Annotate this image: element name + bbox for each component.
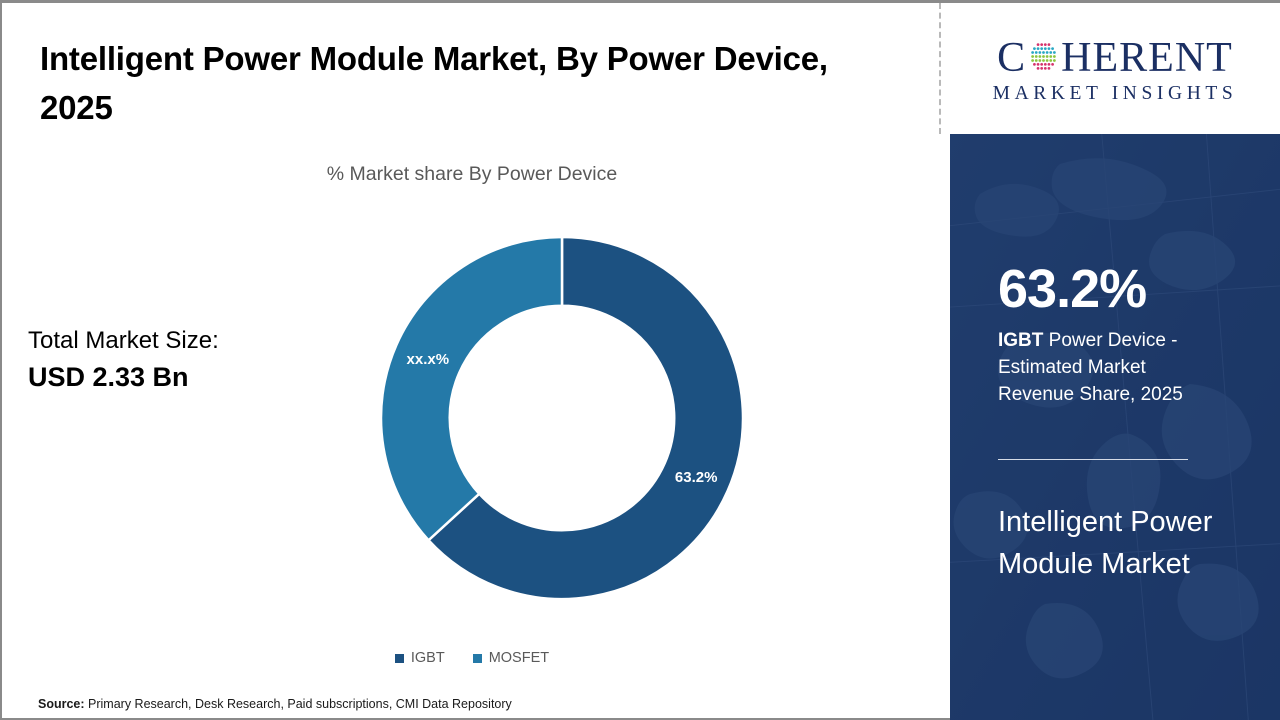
chart-area: Intelligent Power Module Market, By Powe… (2, 3, 939, 720)
total-market-size-value: USD 2.33 Bn (28, 359, 219, 397)
highlight-stat-panel: 63.2% IGBT Power Device - Estimated Mark… (950, 134, 1280, 720)
logo-subtext: MARKET INSIGHTS (993, 84, 1238, 104)
stat-description: IGBT Power Device - Estimated Market Rev… (998, 327, 1223, 408)
total-market-size-block: Total Market Size: USD 2.33 Bn (28, 325, 219, 396)
legend-item-mosfet[interactable]: MOSFET (473, 650, 549, 666)
donut-slice-mosfet[interactable] (381, 237, 562, 540)
page-title: Intelligent Power Module Market, By Powe… (40, 35, 840, 133)
stat-content: 63.2% IGBT Power Device - Estimated Mark… (998, 134, 1258, 720)
stat-figure: 63.2% (998, 262, 1146, 316)
chart-subtitle: % Market share By Power Device (2, 163, 942, 186)
slice-label-mosfet: xx.x% (407, 351, 450, 368)
legend-label-igbt: IGBT (411, 650, 445, 666)
source-line: Source: Primary Research, Desk Research,… (38, 697, 512, 711)
infographic-card: Intelligent Power Module Market, By Powe… (0, 0, 1280, 720)
slice-label-igbt: 63.2% (675, 469, 718, 486)
logo-word-part1: C (997, 37, 1026, 79)
donut-chart-svg: 63.2% xx.x% (378, 234, 746, 602)
source-text: Primary Research, Desk Research, Paid su… (85, 697, 512, 711)
stat-market-name: Intelligent Power Module Market (998, 502, 1233, 586)
source-label: Source: (38, 697, 85, 711)
chart-legend: IGBT MOSFET (2, 650, 942, 666)
donut-slice-group (381, 237, 743, 599)
vertical-dashed-divider (939, 3, 941, 134)
right-sidebar: C HERENT MARKET INSIGHTS (950, 3, 1280, 720)
globe-dots-icon (1027, 40, 1060, 73)
total-market-size-label: Total Market Size: (28, 325, 219, 357)
logo-word-part2: HERENT (1061, 37, 1233, 79)
legend-label-mosfet: MOSFET (489, 650, 549, 666)
stat-description-bold: IGBT (998, 330, 1043, 351)
brand-logo[interactable]: C HERENT MARKET INSIGHTS (950, 6, 1280, 134)
stat-divider-rule (998, 459, 1188, 460)
logo-wordmark: C HERENT (997, 37, 1233, 79)
legend-item-igbt[interactable]: IGBT (395, 650, 445, 666)
donut-chart: 63.2% xx.x% (378, 234, 746, 602)
legend-swatch-igbt (395, 654, 404, 663)
legend-swatch-mosfet (473, 654, 482, 663)
